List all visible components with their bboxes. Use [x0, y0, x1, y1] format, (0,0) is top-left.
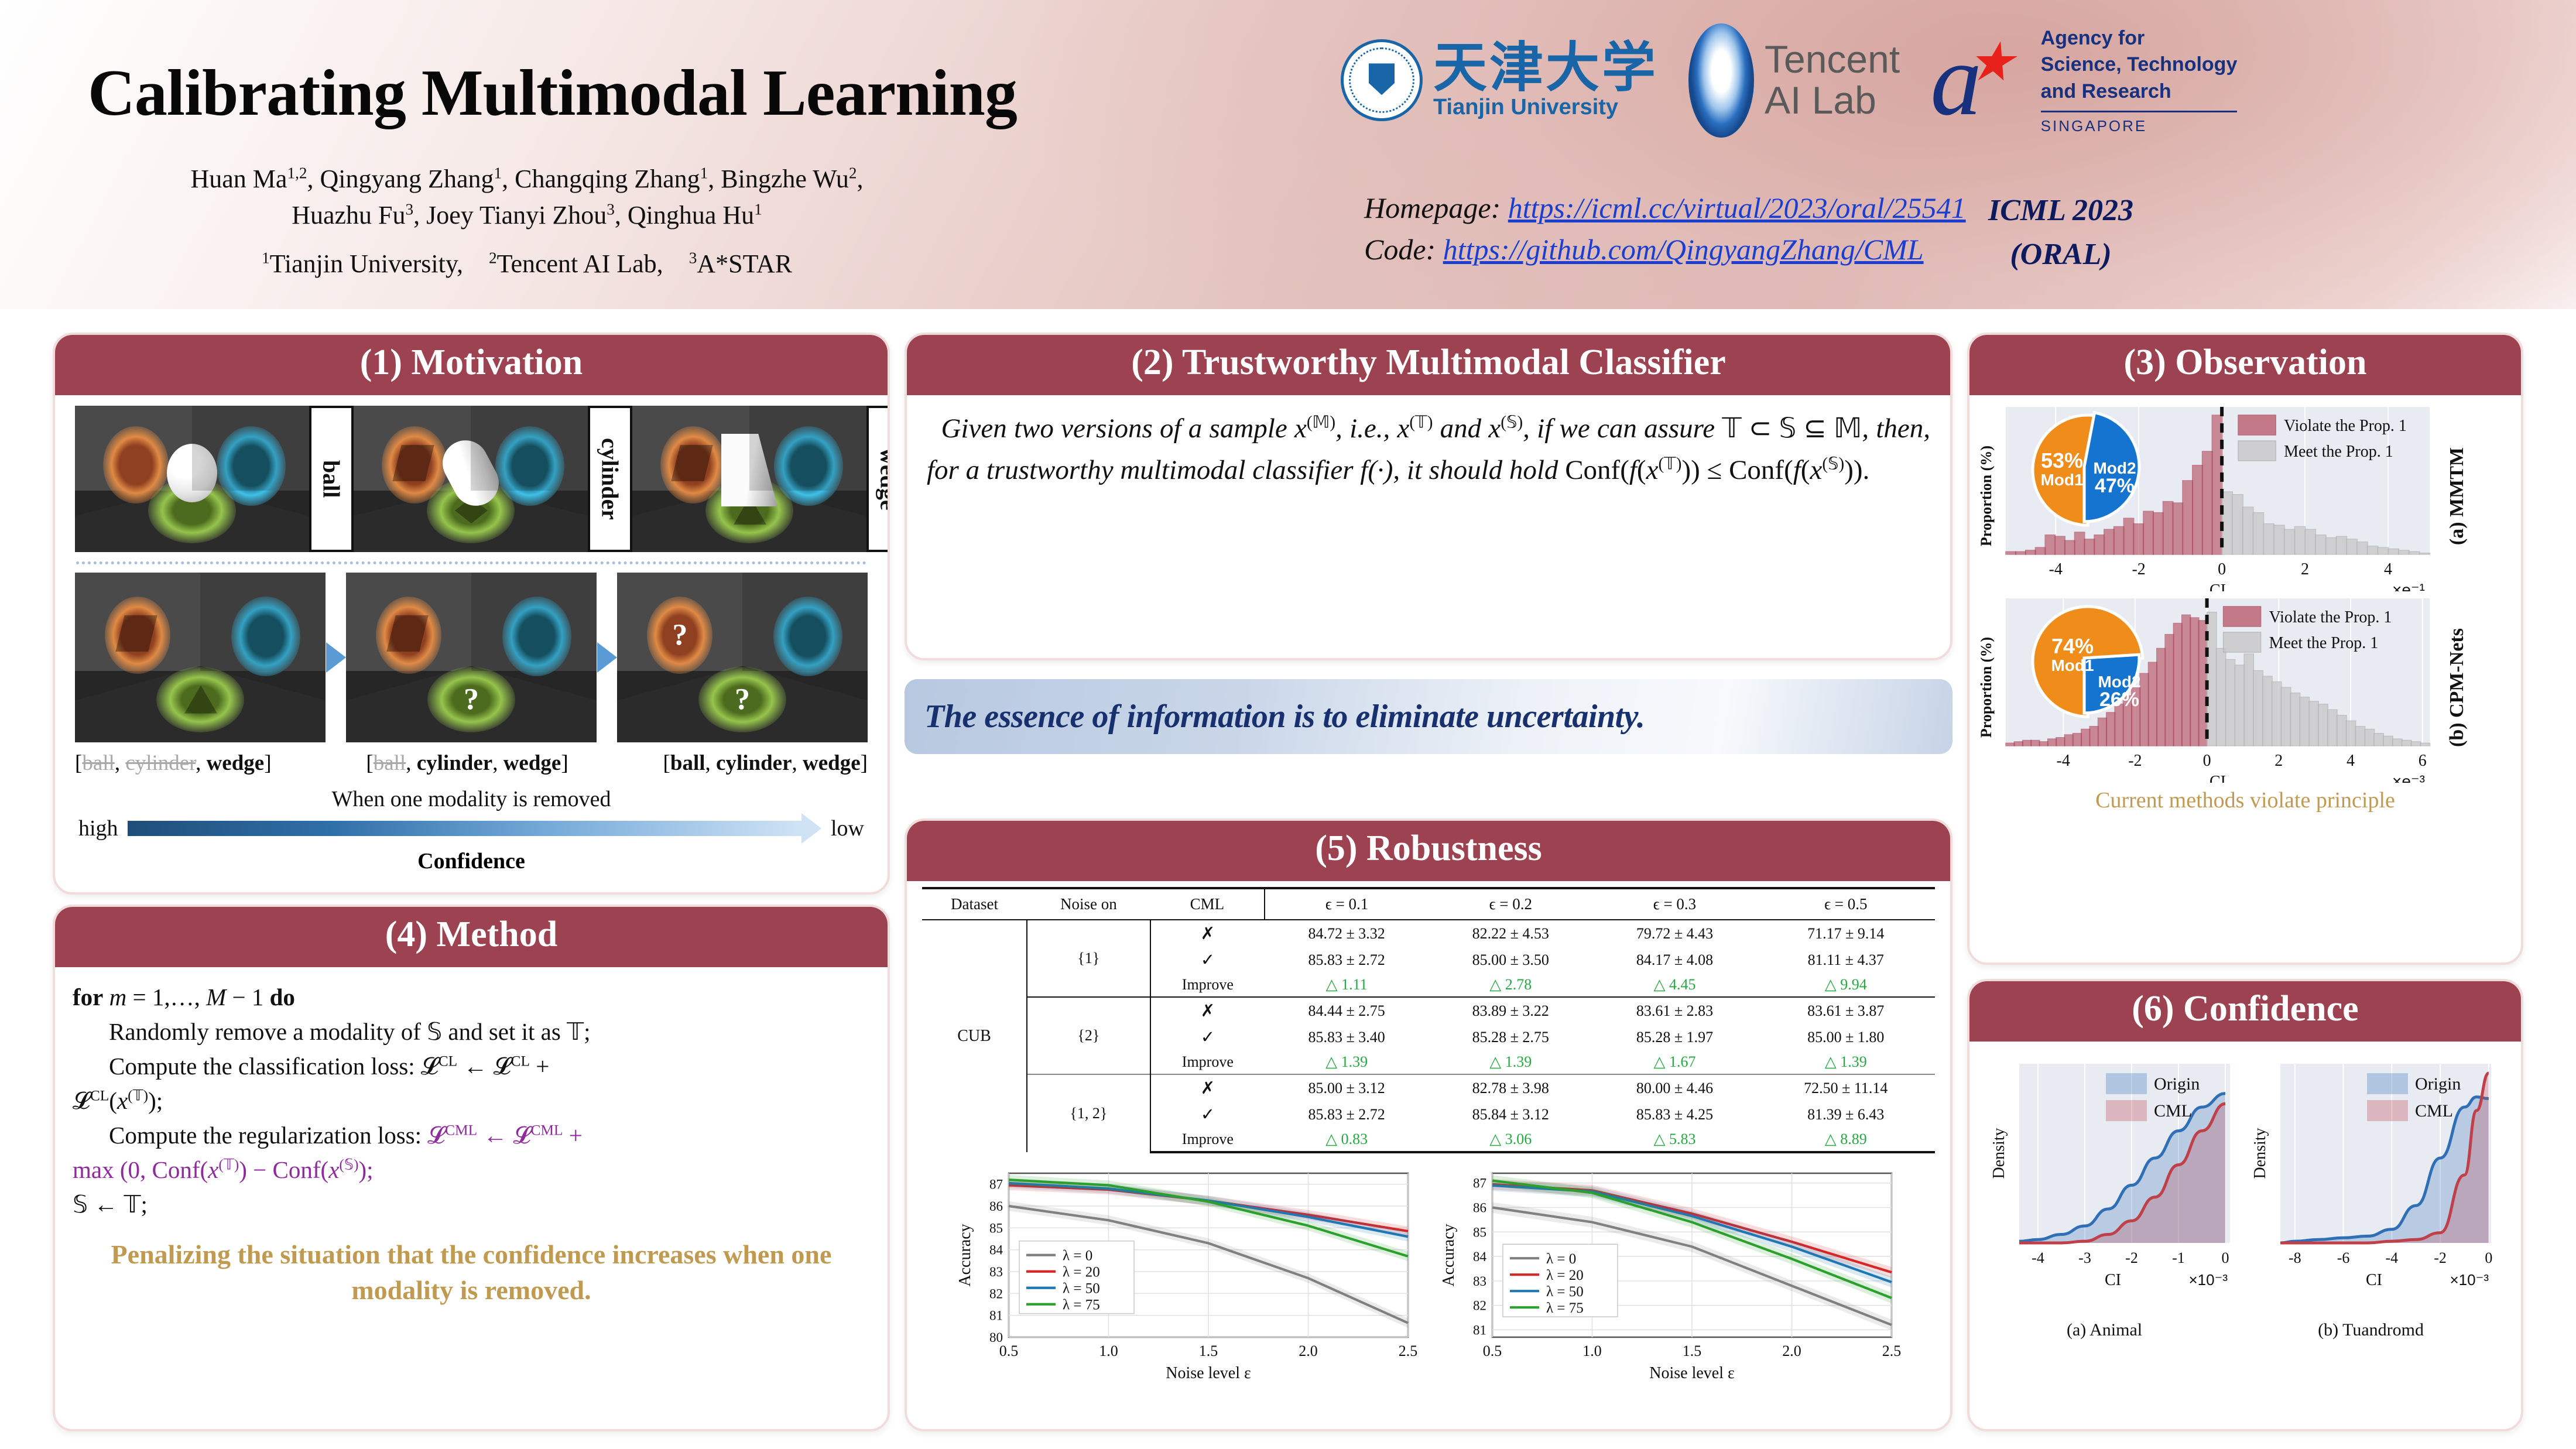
- svg-text:85: 85: [1473, 1225, 1486, 1239]
- svg-text:Violate the Prop. 1: Violate the Prop. 1: [2284, 417, 2407, 435]
- svg-text:83: 83: [1473, 1274, 1486, 1289]
- panel-classifier-heading: (2) Trustworthy Multimodal Classifier: [905, 333, 1952, 395]
- svg-text:84: 84: [989, 1243, 1003, 1258]
- svg-text:4: 4: [2347, 752, 2355, 770]
- svg-text:-3: -3: [2078, 1249, 2091, 1266]
- svg-text:26%: 26%: [2099, 688, 2139, 711]
- method-line-4b: max (0, Conf(x(𝕋)) − Conf(x(𝕊));: [73, 1153, 870, 1187]
- label-wedge: wedge: [207, 751, 265, 775]
- table-cell-cml: ✓: [1150, 1024, 1265, 1050]
- table-cell-noise-on: {1, 2}: [1027, 1074, 1150, 1152]
- page-title: Calibrating Multimodal Learning: [88, 56, 1017, 131]
- panel-method: (4) Method for m = 1,…, M − 1 do Randoml…: [53, 905, 890, 1431]
- scene-wedge: [632, 406, 866, 552]
- venue-badge: ICML 2023 (ORAL): [1897, 189, 2225, 277]
- table-cell-value: 85.83 ± 4.25: [1592, 1101, 1756, 1128]
- table-cell-value: △ 9.94: [1757, 973, 1935, 997]
- svg-text:82: 82: [1473, 1299, 1486, 1313]
- tencent-ai-lab-logo: Tencent AI Lab: [1688, 23, 1900, 138]
- author-line-2: Huazhu Fu3, Joey Tianyi Zhou3, Qinghua H…: [88, 200, 966, 230]
- panel-method-heading: (4) Method: [53, 905, 890, 967]
- svg-text:-2: -2: [2125, 1249, 2138, 1266]
- svg-text:4: 4: [2384, 560, 2392, 578]
- glow-green: [156, 667, 244, 732]
- table-cell-value: 85.83 ± 2.72: [1265, 947, 1429, 973]
- astar-label-3: and Research: [2041, 78, 2238, 105]
- panel-confidence: (6) Confidence -4-3-2-10OriginCMLCI×10⁻³…: [1967, 979, 2523, 1431]
- table-cell-cml: ✓: [1150, 1101, 1265, 1128]
- confidence-low-label: low: [831, 816, 864, 841]
- question-mark-icon: ?: [464, 682, 479, 717]
- svg-text:Mod1: Mod1: [2051, 656, 2094, 674]
- svg-text:86: 86: [1473, 1201, 1486, 1215]
- panel-observation: (3) Observation Proportion (%) -4-2024Vi…: [1967, 333, 2523, 965]
- astar-singapore-label: SINGAPORE: [2041, 111, 2238, 135]
- table-cell-value: △ 2.78: [1429, 973, 1592, 997]
- motivation-label-row: [ball, cylinder, wedge] [ball, cylinder,…: [70, 742, 872, 776]
- table-cell-value: 84.44 ± 2.75: [1265, 997, 1429, 1024]
- scene-caption-wedge-text: wedge: [875, 448, 890, 511]
- svg-text:-8: -8: [2289, 1249, 2301, 1266]
- author-line-1: Huan Ma1,2, Qingyang Zhang1, Changqing Z…: [88, 164, 966, 194]
- svg-text:Meet the Prop. 1: Meet the Prop. 1: [2269, 634, 2379, 652]
- svg-text:λ = 50: λ = 50: [1546, 1284, 1584, 1300]
- observation-a-ylabel: Proportion (%): [1978, 446, 1995, 546]
- svg-text:Origin: Origin: [2415, 1074, 2461, 1094]
- svg-text:1.0: 1.0: [1099, 1342, 1118, 1359]
- svg-text:Accuracy: Accuracy: [956, 1224, 974, 1286]
- table-cell-value: 82.78 ± 3.98: [1429, 1074, 1592, 1101]
- affiliation-line: 1Tianjin University, 2Tencent AI Lab, 3A…: [88, 249, 966, 279]
- svg-text:1.5: 1.5: [1199, 1342, 1218, 1359]
- table-cell-value: 81.39 ± 6.43: [1757, 1101, 1935, 1128]
- glow-orange: [105, 597, 170, 674]
- label-ball: ball: [670, 751, 705, 775]
- table-cell-value: △ 1.39: [1265, 1050, 1429, 1074]
- svg-text:0: 0: [2485, 1249, 2492, 1266]
- svg-text:Meet the Prop. 1: Meet the Prop. 1: [2284, 443, 2393, 461]
- inner-diamond: [392, 445, 434, 481]
- svg-text:Accuracy: Accuracy: [1440, 1224, 1458, 1286]
- code-label: Code:: [1364, 233, 1436, 266]
- method-line-3: Compute the classification loss: 𝓛CL ← 𝓛…: [73, 1049, 870, 1084]
- table-cell-cml: ✗: [1150, 1074, 1265, 1101]
- svg-text:1.5: 1.5: [1683, 1342, 1702, 1359]
- chart-robustness-right: 818283848586870.51.01.52.02.5λ = 0λ = 20…: [1436, 1164, 1904, 1385]
- astar-a-icon: a★: [1930, 43, 2030, 118]
- svg-text:0.5: 0.5: [1483, 1342, 1502, 1359]
- table-cell-value: 71.17 ± 9.14: [1757, 920, 1935, 947]
- svg-text:CML: CML: [2154, 1101, 2192, 1121]
- motivation-scene-row-bottom: ? ? ?: [70, 573, 872, 742]
- table-cell-value: △ 0.83: [1265, 1128, 1429, 1152]
- chart-confidence-animal: -4-3-2-10OriginCMLCI×10⁻³Density: [1989, 1057, 2241, 1314]
- inner-diamond: [116, 615, 157, 652]
- svg-text:CI: CI: [2210, 581, 2226, 591]
- svg-text:53%: 53%: [2041, 448, 2083, 472]
- table-body: CUB{1}✗84.72 ± 3.3282.22 ± 4.5379.72 ± 4…: [922, 920, 1935, 1152]
- tianjin-university-logo: 天津大学 Tianjin University: [1341, 39, 1658, 121]
- table-cell-value: 83.61 ± 2.83: [1592, 997, 1756, 1024]
- object-wedge-icon: [721, 434, 777, 506]
- method-line-2: Randomly remove a modality of 𝕊 and set …: [73, 1015, 870, 1049]
- question-mark-icon: ?: [735, 682, 750, 717]
- svg-text:Origin: Origin: [2154, 1074, 2200, 1094]
- panel-confidence-heading: (6) Confidence: [1967, 979, 2523, 1042]
- tianjin-chinese-name: 天津大学: [1433, 41, 1658, 95]
- tencent-egg-icon: [1688, 23, 1754, 138]
- astar-logo: a★ Agency for Science, Technology and Re…: [1930, 25, 2237, 136]
- svg-text:λ = 75: λ = 75: [1063, 1297, 1100, 1313]
- label-cylinder: cylinder: [417, 751, 492, 775]
- table-cell-value: 83.89 ± 3.22: [1429, 997, 1592, 1024]
- poster-header: Calibrating Multimodal Learning Huan Ma1…: [0, 0, 2576, 309]
- panel-classifier: (2) Trustworthy Multimodal Classifier Gi…: [905, 333, 1952, 660]
- confidence-gradient-row: high low: [70, 816, 872, 841]
- table-row: CUB{1}✗84.72 ± 3.3282.22 ± 4.5379.72 ± 4…: [922, 920, 1935, 947]
- table-col-2: CML: [1150, 888, 1265, 920]
- table-cell-value: 85.28 ± 1.97: [1592, 1024, 1756, 1050]
- svg-text:Noise level ε: Noise level ε: [1166, 1364, 1251, 1382]
- svg-text:×e⁻¹: ×e⁻¹: [2392, 581, 2425, 591]
- svg-text:81: 81: [989, 1308, 1003, 1323]
- svg-text:λ = 50: λ = 50: [1063, 1281, 1100, 1297]
- inner-diamond: [671, 445, 712, 481]
- confidence-captions: (a) Animal (b) Tuandromd: [1979, 1317, 2512, 1340]
- classifier-statement: Given two versions of a sample x(𝕄), i.e…: [907, 395, 1950, 491]
- scene-caption-cylinder: cylinder: [588, 406, 632, 552]
- label-cylinder: cylinder: [125, 751, 196, 775]
- svg-text:-4: -4: [2032, 1249, 2044, 1266]
- table-cell-value: △ 1.39: [1429, 1050, 1592, 1074]
- confidence-caption-a: (a) Animal: [2067, 1320, 2142, 1340]
- svg-text:2.5: 2.5: [1399, 1342, 1418, 1359]
- table-cell-value: △ 8.89: [1757, 1128, 1935, 1152]
- table-cell-value: 82.22 ± 4.53: [1429, 920, 1592, 947]
- svg-text:0: 0: [2222, 1249, 2229, 1266]
- method-line-4: Compute the regularization loss: 𝓛CML ← …: [73, 1118, 870, 1153]
- essence-text: The essence of information is to elimina…: [905, 698, 1645, 735]
- method-line-3b: 𝓛CL(x(𝕋));: [73, 1084, 870, 1118]
- svg-text:2.0: 2.0: [1782, 1342, 1801, 1359]
- table-cell-value: 83.61 ± 3.87: [1757, 997, 1935, 1024]
- svg-text:CI: CI: [2105, 1271, 2121, 1289]
- svg-text:2: 2: [2301, 560, 2309, 578]
- scene-one-removed: ?: [346, 573, 597, 742]
- svg-text:0: 0: [2203, 752, 2211, 770]
- confidence-caption: Confidence: [70, 848, 872, 874]
- svg-text:2.0: 2.0: [1299, 1342, 1318, 1359]
- label-ball: ball: [82, 751, 114, 775]
- confidence-high-label: high: [78, 816, 118, 841]
- table-cell-cml: Improve: [1150, 973, 1265, 997]
- table-col-4: ϵ = 0.2: [1429, 888, 1592, 920]
- motivation-scene-row-top: ball cylinder wedge: [70, 406, 872, 552]
- scene-two-removed: ? ?: [617, 573, 868, 742]
- arrow-right-icon: [597, 642, 617, 673]
- table-cell-value: 85.00 ± 1.80: [1757, 1024, 1935, 1050]
- table-cell-value: △ 3.06: [1429, 1128, 1592, 1152]
- svg-text:λ = 0: λ = 0: [1546, 1251, 1576, 1267]
- glow-green: [427, 478, 515, 543]
- scene-group-ball: ball: [75, 406, 354, 552]
- svg-text:-2: -2: [2434, 1249, 2447, 1266]
- table-cell-cml: Improve: [1150, 1050, 1265, 1074]
- table-cell-value: △ 5.83: [1592, 1128, 1756, 1152]
- svg-text:81: 81: [1473, 1323, 1486, 1337]
- table-row: {1, 2}✗85.00 ± 3.1282.78 ± 3.9880.00 ± 4…: [922, 1074, 1935, 1101]
- svg-text:-2: -2: [2132, 560, 2145, 578]
- glow-cyan: [231, 597, 300, 676]
- table-cell-value: 72.50 ± 11.14: [1757, 1074, 1935, 1101]
- inner-diamond: [387, 615, 429, 652]
- table-cell-value: 85.00 ± 3.12: [1265, 1074, 1429, 1101]
- scene-group-wedge: wedge: [632, 406, 890, 552]
- robustness-table: DatasetNoise onCMLϵ = 0.1ϵ = 0.2ϵ = 0.3ϵ…: [922, 887, 1935, 1153]
- glow-cyan: [502, 597, 571, 676]
- when-removed-text: When one modality is removed: [70, 786, 872, 812]
- method-algorithm: for m = 1,…, M − 1 do Randomly remove a …: [55, 967, 888, 1308]
- robustness-charts: 80818283848586870.51.01.52.02.5λ = 0λ = …: [922, 1164, 1935, 1385]
- svg-text:λ = 20: λ = 20: [1063, 1265, 1100, 1280]
- table-cell-cml: Improve: [1150, 1128, 1265, 1152]
- table-cell-dataset: CUB: [922, 920, 1027, 1152]
- svg-text:2: 2: [2274, 752, 2283, 770]
- table-col-1: Noise on: [1027, 888, 1150, 920]
- svg-text:0: 0: [2218, 560, 2226, 578]
- svg-text:λ = 20: λ = 20: [1546, 1268, 1584, 1283]
- inner-triangle: [184, 686, 217, 714]
- panel-robustness-heading: (5) Robustness: [905, 818, 1952, 881]
- scene-caption-ball-text: ball: [318, 460, 345, 498]
- table-cell-noise-on: {2}: [1027, 997, 1150, 1074]
- glow-green: [705, 478, 793, 543]
- svg-text:CI: CI: [2366, 1271, 2382, 1289]
- observation-chart-a: Proportion (%) -4-2024Violate the Prop. …: [1978, 401, 2513, 591]
- svg-text:85: 85: [989, 1221, 1003, 1235]
- svg-text:Noise level ε: Noise level ε: [1649, 1364, 1735, 1382]
- method-line-1: for m = 1,…, M − 1 do: [73, 980, 870, 1015]
- table-col-6: ϵ = 0.5: [1757, 888, 1935, 920]
- essence-callout: The essence of information is to elimina…: [905, 679, 1952, 754]
- panel-robustness: (5) Robustness DatasetNoise onCMLϵ = 0.1…: [905, 818, 1952, 1431]
- table-cell-value: 85.00 ± 3.50: [1429, 947, 1592, 973]
- scene-full-modalities: [75, 573, 326, 742]
- glow-orange: [376, 597, 441, 674]
- table-cell-value: 85.28 ± 2.75: [1429, 1024, 1592, 1050]
- table-cell-value: 79.72 ± 4.43: [1592, 920, 1756, 947]
- arrow-right-icon: [326, 642, 346, 673]
- table-cell-cml: ✗: [1150, 920, 1265, 947]
- table-cell-value: △ 1.67: [1592, 1050, 1756, 1074]
- svg-text:-4: -4: [2049, 560, 2063, 578]
- astar-label-1: Agency for: [2041, 25, 2238, 52]
- svg-text:-4: -4: [2386, 1249, 2399, 1266]
- observation-a-side-label: (a) MMTM: [2446, 447, 2468, 545]
- svg-text:×10⁻³: ×10⁻³: [2450, 1271, 2489, 1289]
- confidence-caption-b: (b) Tuandromd: [2318, 1320, 2424, 1340]
- table-cell-value: 85.83 ± 3.40: [1265, 1024, 1429, 1050]
- astar-star-icon: ★: [1967, 32, 2015, 92]
- table-row: {2}✗84.44 ± 2.7583.89 ± 3.2283.61 ± 2.83…: [922, 997, 1935, 1024]
- table-cell-value: 84.72 ± 3.32: [1265, 920, 1429, 947]
- svg-text:74%: 74%: [2051, 634, 2094, 658]
- observation-chart-b: Proportion (%) -4-20246Violate the Prop.…: [1978, 592, 2513, 783]
- label-wedge: wedge: [503, 751, 561, 775]
- svg-text:Density: Density: [1990, 1128, 2008, 1179]
- scene-caption-cylinder-text: cylinder: [597, 438, 624, 520]
- glow-green: ?: [427, 667, 515, 732]
- table-cell-value: 85.84 ± 3.12: [1429, 1101, 1592, 1128]
- svg-text:-1: -1: [2172, 1249, 2185, 1266]
- modality-label-1: [ball, cylinder, wedge]: [75, 751, 272, 776]
- glow-green: ?: [698, 667, 786, 732]
- svg-text:86: 86: [989, 1199, 1003, 1214]
- table-cell-value: 81.11 ± 4.37: [1757, 947, 1935, 973]
- motivation-divider: [76, 561, 866, 564]
- table-cell-value: △ 1.11: [1265, 973, 1429, 997]
- svg-text:-4: -4: [2057, 752, 2070, 770]
- scene-group-cylinder: cylinder: [354, 406, 632, 552]
- svg-text:-6: -6: [2337, 1249, 2350, 1266]
- confidence-charts: -4-3-2-10OriginCMLCI×10⁻³Density -8-6-4-…: [1979, 1057, 2512, 1314]
- table-col-3: ϵ = 0.1: [1265, 888, 1429, 920]
- svg-text:Density: Density: [2251, 1128, 2269, 1179]
- svg-text:84: 84: [1473, 1249, 1487, 1264]
- svg-text:2.5: 2.5: [1882, 1342, 1902, 1359]
- glow-orange: ?: [647, 597, 712, 674]
- glow-cyan: [773, 597, 842, 676]
- svg-text:λ = 75: λ = 75: [1546, 1300, 1584, 1316]
- table-col-5: ϵ = 0.3: [1592, 888, 1756, 920]
- venue-line-1: ICML 2023: [1897, 189, 2225, 232]
- label-ball: ball: [374, 751, 406, 775]
- venue-line-2: (ORAL): [1897, 232, 2225, 276]
- code-link[interactable]: https://github.com/QingyangZhang/CML: [1443, 233, 1924, 266]
- svg-text:83: 83: [989, 1265, 1003, 1279]
- homepage-label: Homepage:: [1364, 191, 1501, 224]
- question-mark-icon: ?: [672, 618, 687, 652]
- table-col-0: Dataset: [922, 888, 1027, 920]
- scene-cylinder: [354, 406, 588, 552]
- confidence-gradient-bar: [128, 821, 801, 836]
- tencent-label-2: AI Lab: [1765, 80, 1900, 121]
- tianjin-seal-icon: [1341, 39, 1423, 121]
- scene-caption-ball: ball: [309, 406, 354, 552]
- method-note: Penalizing the situation that the confid…: [73, 1237, 870, 1308]
- svg-text:87: 87: [1473, 1176, 1486, 1191]
- table-header-row: DatasetNoise onCMLϵ = 0.1ϵ = 0.2ϵ = 0.3ϵ…: [922, 888, 1935, 920]
- svg-text:82: 82: [989, 1286, 1003, 1301]
- panel-motivation: (1) Motivation ball cylinder: [53, 333, 890, 895]
- svg-text:CML: CML: [2415, 1101, 2453, 1121]
- svg-text:×e⁻³: ×e⁻³: [2392, 772, 2425, 783]
- links-block: Homepage: https://icml.cc/virtual/2023/o…: [1364, 187, 1966, 270]
- svg-text:λ = 0: λ = 0: [1063, 1248, 1092, 1264]
- svg-text:1.0: 1.0: [1582, 1342, 1602, 1359]
- table-cell-value: 85.83 ± 2.72: [1265, 1101, 1429, 1128]
- table-cell-cml: ✗: [1150, 997, 1265, 1024]
- modality-label-2: [ball, cylinder, wedge]: [366, 751, 568, 776]
- svg-text:47%: 47%: [2095, 475, 2135, 497]
- svg-text:6: 6: [2419, 752, 2427, 770]
- svg-text:Violate the Prop. 1: Violate the Prop. 1: [2269, 608, 2392, 626]
- label-wedge: wedge: [803, 751, 861, 775]
- table-cell-value: △ 4.45: [1592, 973, 1756, 997]
- modality-label-3: [ball, cylinder, wedge]: [663, 751, 868, 776]
- glow-green: [148, 478, 236, 543]
- svg-text:0.5: 0.5: [999, 1342, 1019, 1359]
- table-cell-noise-on: {1}: [1027, 920, 1150, 997]
- svg-text:×10⁻³: ×10⁻³: [2189, 1271, 2228, 1289]
- panel-motivation-heading: (1) Motivation: [53, 333, 890, 395]
- observation-note: Current methods violate principle: [1978, 787, 2513, 813]
- method-line-5: 𝕊 ← 𝕋;: [73, 1187, 870, 1222]
- chart-robustness-left: 80818283848586870.51.01.52.02.5λ = 0λ = …: [953, 1164, 1421, 1385]
- svg-text:Mod1: Mod1: [2040, 471, 2083, 489]
- chart-confidence-tuandromd: -8-6-4-20OriginCMLCI×10⁻³Density: [2250, 1057, 2502, 1314]
- astar-label-2: Science, Technology: [2041, 52, 2238, 78]
- observation-b-side-label: (b) CPM-Nets: [2446, 628, 2468, 747]
- label-cylinder: cylinder: [716, 751, 792, 775]
- svg-text:CI: CI: [2210, 773, 2226, 783]
- scene-caption-wedge: wedge: [866, 406, 890, 552]
- table-cell-value: 84.17 ± 4.08: [1592, 947, 1756, 973]
- table-cell-value: 80.00 ± 4.46: [1592, 1074, 1756, 1101]
- observation-b-ylabel: Proportion (%): [1978, 637, 1995, 738]
- tencent-label-1: Tencent: [1765, 39, 1900, 80]
- svg-text:-2: -2: [2128, 752, 2142, 770]
- sponsor-logos: 天津大学 Tianjin University Tencent AI Lab a…: [1341, 13, 2237, 148]
- table-cell-cml: ✓: [1150, 947, 1265, 973]
- svg-text:87: 87: [989, 1177, 1003, 1192]
- object-ball-icon: [167, 444, 217, 502]
- panel-observation-heading: (3) Observation: [1967, 333, 2523, 395]
- scene-ball: [75, 406, 309, 552]
- table-cell-value: △ 1.39: [1757, 1050, 1935, 1074]
